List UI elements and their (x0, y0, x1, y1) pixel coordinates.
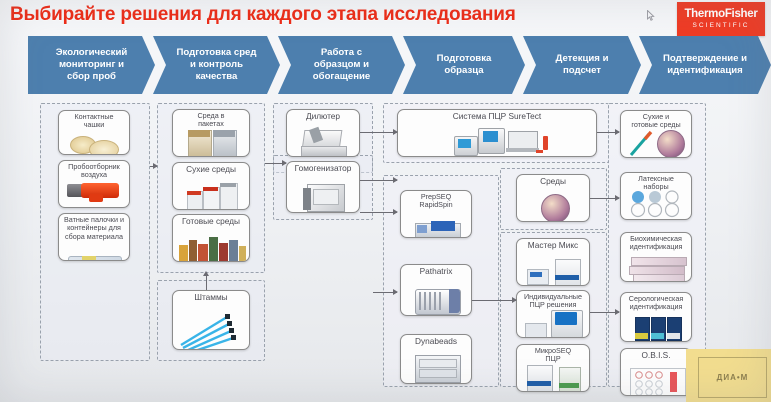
card-pathatrix[interactable]: Pathatrix (400, 264, 472, 316)
process-step-4[interactable]: Подготовка образца (403, 36, 525, 94)
arrow-suretect-to-col6 (597, 132, 619, 133)
card-homogenizer-label: Гомогенизатор (287, 164, 359, 174)
card-serology-id[interactable]: Серологическая идентификация (620, 292, 692, 342)
card-ready-media[interactable]: Готовые среды (172, 214, 250, 262)
step5-line1: Детекция и (556, 53, 609, 65)
step3-line2: образцом и (313, 59, 370, 71)
arrow-media-to-col6 (590, 198, 619, 199)
process-step-2[interactable]: Подготовка сред и контроль качества (153, 36, 280, 94)
card-latex-kits[interactable]: Латексные наборы (620, 172, 692, 220)
card-dry-media[interactable]: Сухие среды (172, 162, 250, 210)
arrow-pcr-to-col6 (590, 312, 619, 313)
card-master-mix[interactable]: Мастер Микс (516, 238, 590, 286)
microseq-art (517, 361, 589, 389)
contact-dishes-art (59, 127, 129, 152)
obis-wells-icon (630, 368, 684, 395)
card-dry-ready-media[interactable]: Сухие и готовые среды (620, 110, 692, 158)
card-master-mix-label: Мастер Микс (517, 241, 589, 251)
card-air-sampler[interactable]: Пробоотборник воздуха (58, 160, 130, 208)
arrow-col2-to-col3 (265, 163, 286, 164)
step6-line2: идентификация (663, 65, 747, 77)
card-microseq[interactable]: МикроSEQ ПЦР (516, 344, 590, 392)
diam-watermark-frame: ДИА•М (698, 357, 767, 398)
card-suretect-label: Система ПЦР SureTect (398, 112, 596, 122)
step3-line3: обогащение (313, 71, 370, 83)
swabs-art (59, 230, 129, 258)
master-mix-art (517, 255, 589, 283)
logo-tagline: SCIENTIFIC (692, 23, 749, 30)
homogenizer-art (287, 178, 359, 210)
dynabeads-art (401, 351, 471, 381)
step1-line2: мониторинг и (56, 59, 128, 71)
air-sampler-art (59, 177, 129, 205)
arrow-homog-to-prepseq (360, 212, 397, 213)
card-ready-media-label: Готовые среды (173, 217, 249, 227)
step2-line3: качества (177, 71, 257, 83)
diam-watermark-text: ДИА•М (717, 373, 749, 382)
card-dynabeads-label: Dynabeads (401, 337, 471, 347)
latex-kits-art (621, 189, 691, 217)
mouse-pointer-icon (647, 10, 655, 21)
step6-line1: Подтверждение и (663, 53, 747, 65)
step3-line1: Работа с (313, 47, 370, 59)
card-media-bags[interactable]: Среда в пакетах (172, 109, 250, 157)
card-media[interactable]: Среды (516, 174, 590, 222)
step2-line2: и контроль (177, 59, 257, 71)
card-obis[interactable]: O.B.I.S. (620, 348, 692, 396)
step5-line2: подсчет (556, 65, 609, 77)
step4-line2: образца (437, 65, 492, 77)
card-strains[interactable]: Штаммы (172, 290, 250, 350)
card-dynabeads[interactable]: Dynabeads (400, 334, 472, 384)
process-step-1[interactable]: Экологический мониторинг и сбор проб (28, 36, 155, 94)
suretect-art (398, 126, 596, 154)
dry-media-art (173, 179, 249, 207)
arrow-strains-up (206, 276, 207, 290)
process-chevron-band: Экологический мониторинг и сбор проб Под… (0, 36, 771, 94)
swab-icon (627, 129, 657, 158)
step4-line1: Подготовка (437, 53, 492, 65)
card-suretect[interactable]: Система ПЦР SureTect (397, 109, 597, 157)
diluter-art (287, 126, 359, 154)
process-step-5[interactable]: Детекция и подсчет (523, 36, 641, 94)
arrow-diluter-to-suretect (360, 132, 397, 133)
card-pathatrix-label: Pathatrix (401, 267, 471, 277)
step1-line3: сбор проб (56, 71, 128, 83)
card-homogenizer[interactable]: Гомогенизатор (286, 161, 360, 213)
media-bags-art (173, 126, 249, 154)
card-obis-label: O.B.I.S. (621, 351, 691, 361)
page-title: Выбирайте решения для каждого этапа иссл… (10, 4, 516, 26)
slide-canvas: Выбирайте решения для каждого этапа иссл… (0, 0, 771, 402)
card-prepseq[interactable]: PrepSEQ RapidSpin (400, 190, 472, 238)
card-diluter-label: Дилютер (287, 112, 359, 122)
step2-line1: Подготовка сред (177, 47, 257, 59)
card-diluter[interactable]: Дилютер (286, 109, 360, 157)
latex-circles-icon (621, 189, 692, 219)
card-swabs[interactable]: Ватные палочки и контейнеры для сбора ма… (58, 213, 130, 261)
step1-line1: Экологический (56, 47, 128, 59)
strains-art (173, 307, 249, 347)
card-contact-dishes[interactable]: Контактные чашки (58, 110, 130, 155)
biochem-id-art (621, 249, 691, 279)
pathatrix-art (401, 281, 471, 313)
obis-art (621, 365, 691, 393)
card-strains-label: Штаммы (173, 293, 249, 303)
process-step-3[interactable]: Работа с образцом и обогащение (278, 36, 405, 94)
diam-watermark: ДИА•М (686, 349, 771, 402)
card-custom-pcr[interactable]: Индивидуальные ПЦР решения (516, 290, 590, 338)
arrow-homog-to-col4 (360, 180, 397, 181)
custom-pcr-art (517, 307, 589, 335)
arrow-col4-to-col5 (472, 300, 516, 301)
arrow-to-pathatrix (373, 292, 397, 293)
strain-swabs-icon (173, 307, 250, 350)
dry-ready-media-art (621, 127, 691, 155)
arrow-col1-to-col2 (150, 166, 157, 167)
card-dry-media-label: Сухие среды (173, 165, 249, 175)
process-step-6[interactable]: Подтверждение и идентификация (639, 36, 771, 94)
card-media-label: Среды (517, 177, 589, 187)
card-biochem-id[interactable]: Биохимическая идентификация (620, 232, 692, 282)
serology-id-art (621, 309, 691, 339)
media-petri-art (517, 191, 589, 219)
ready-media-art (173, 231, 249, 259)
prepseq-art (401, 207, 471, 235)
logo-wordmark: ThermoFisher (684, 9, 757, 21)
thermofisher-logo: ThermoFisher SCIENTIFIC (677, 2, 765, 36)
